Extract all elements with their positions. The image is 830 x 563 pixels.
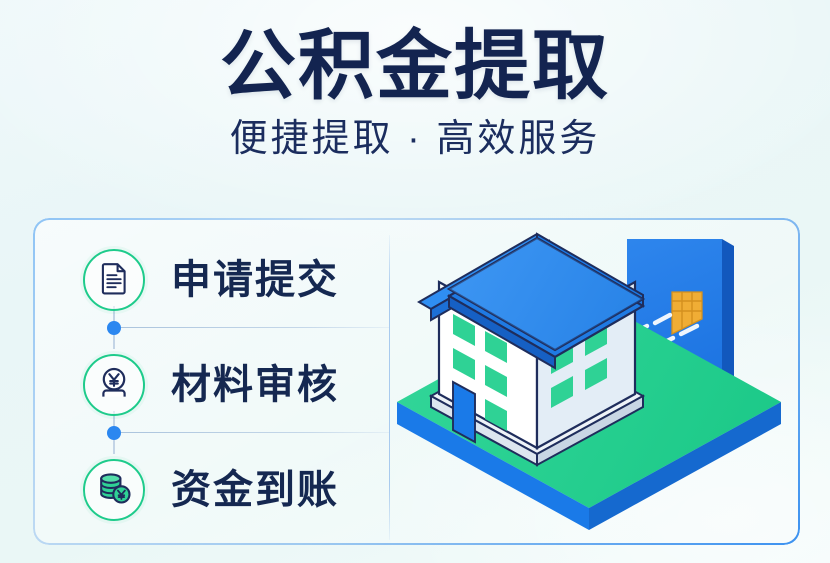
poster-root: 公积金提取 便捷提取 · 高效服务 [0, 0, 830, 563]
step-item-material-review[interactable]: 材料审核 [83, 349, 339, 421]
page-title: 公积金提取 [0, 24, 830, 110]
step-label: 资金到账 [171, 468, 339, 512]
step-icon-circle [83, 249, 145, 311]
document-icon [97, 261, 131, 300]
money-review-icon [96, 366, 132, 405]
coin-stack-icon [96, 471, 132, 510]
content-card: 申请提交 材料审核 [33, 218, 800, 545]
step-item-application-submit[interactable]: 申请提交 [83, 244, 339, 316]
step-separator [114, 432, 389, 433]
step-icon-circle [83, 459, 145, 521]
step-item-funds-received[interactable]: 资金到账 [83, 454, 339, 526]
page-subtitle: 便捷提取 · 高效服务 [0, 116, 830, 162]
header: 公积金提取 便捷提取 · 高效服务 [0, 0, 830, 162]
step-label: 材料审核 [171, 363, 339, 407]
steps-list: 申请提交 材料审核 [33, 218, 389, 545]
step-separator [114, 327, 389, 328]
step-node-dot [107, 426, 121, 440]
step-node-dot [107, 321, 121, 335]
step-label: 申请提交 [171, 258, 339, 302]
step-icon-circle [83, 354, 145, 416]
illustration-house-and-card [389, 218, 800, 545]
